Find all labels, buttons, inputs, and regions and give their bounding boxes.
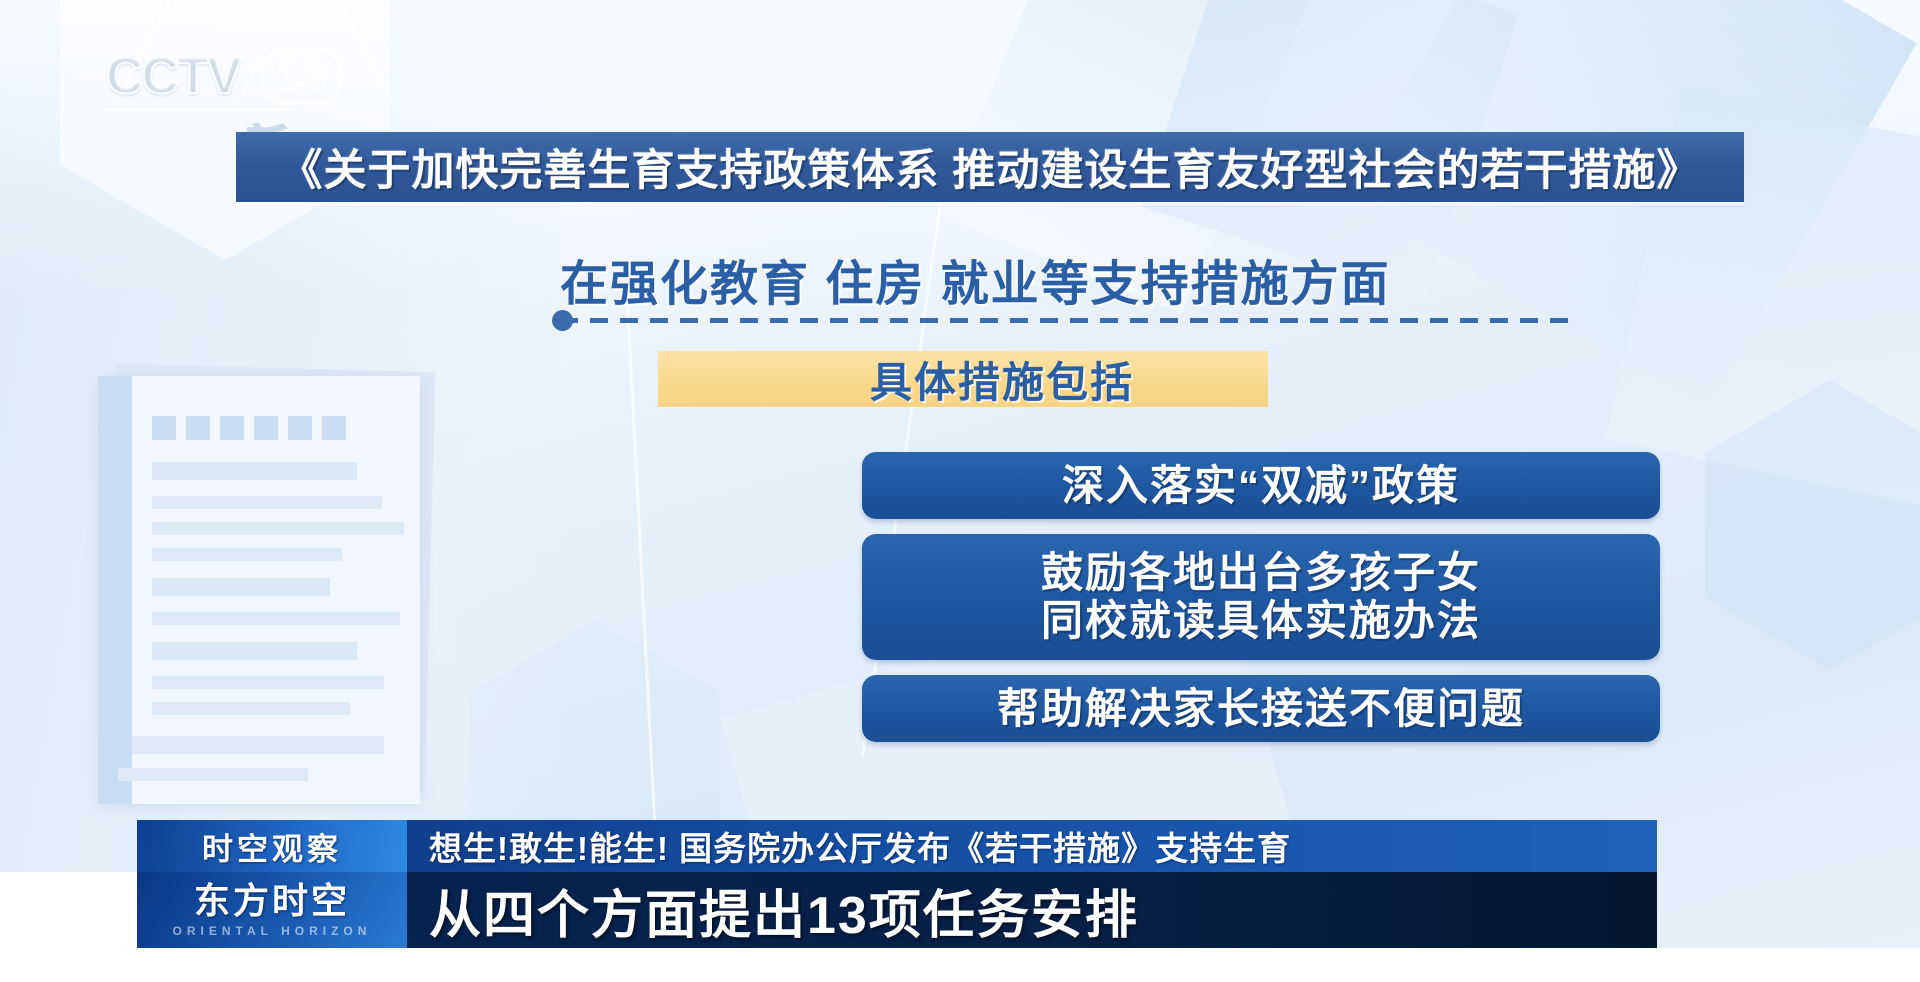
document-swatch bbox=[220, 416, 244, 440]
cctv-logo-text: CCTV bbox=[106, 46, 240, 106]
document-swatch bbox=[322, 416, 346, 440]
document-line bbox=[152, 676, 384, 689]
measure-pill: 鼓励各地出台多孩子女 同校就读具体实施办法 bbox=[862, 534, 1660, 660]
aspect-line: 在强化教育 住房 就业等支持措施方面 bbox=[560, 248, 1570, 310]
program-name-cn: 东方时空 bbox=[194, 883, 350, 919]
measure-pill-text: 帮助解决家长接送不便问题 bbox=[997, 685, 1525, 733]
program-brand-box: 东方时空 ORIENTAL HORIZON bbox=[137, 872, 407, 948]
document-swatch bbox=[288, 416, 312, 440]
dotted-underline bbox=[560, 318, 1572, 323]
document-line bbox=[118, 768, 308, 781]
document-bar bbox=[152, 642, 357, 660]
headline-text: 想生!敢生!能生! 国务院办公厅发布《若干措施》支持生育 bbox=[429, 822, 1291, 870]
highlight-banner: 具体措施包括 bbox=[658, 351, 1268, 407]
document-bar bbox=[118, 736, 384, 754]
lower-third: 时空观察 想生!敢生!能生! 国务院办公厅发布《若干措施》支持生育 东方时空 O… bbox=[0, 820, 1920, 982]
segment-label-box: 时空观察 bbox=[137, 820, 407, 872]
document-line bbox=[152, 496, 382, 509]
document-illustration bbox=[70, 350, 470, 820]
document-line bbox=[152, 702, 350, 715]
cctv-logo-underline bbox=[104, 108, 294, 111]
main-title-text: 从四个方面提出13项任务安排 bbox=[429, 873, 1139, 948]
document-title-band: 《关于加快完善生育支持政策体系 推动建设生育友好型社会的若干措施》 bbox=[236, 132, 1744, 202]
program-name-en: ORIENTAL HORIZON bbox=[173, 924, 372, 938]
measure-pill-text: 深入落实“双减”政策 bbox=[1062, 462, 1460, 510]
document-bar bbox=[152, 578, 330, 596]
cctv-logo-number: 13 bbox=[260, 47, 343, 105]
document-line bbox=[152, 548, 342, 561]
measure-pill: 帮助解决家长接送不便问题 bbox=[862, 675, 1660, 742]
measure-pill-text: 鼓励各地出台多孩子女 同校就读具体实施办法 bbox=[1041, 549, 1481, 645]
document-line bbox=[152, 522, 404, 535]
document-title-text: 《关于加快完善生育支持政策体系 推动建设生育友好型社会的若干措施》 bbox=[280, 136, 1701, 198]
document-swatch bbox=[152, 416, 176, 440]
broadcast-screen: CCTV / 13 新 《关于加快完善生育支持政策体系 推动建设生育友好型社会的… bbox=[0, 0, 1920, 982]
document-bar bbox=[152, 462, 357, 480]
document-swatch bbox=[186, 416, 210, 440]
main-title-bar: 从四个方面提出13项任务安排 bbox=[407, 872, 1657, 948]
document-line bbox=[152, 612, 400, 625]
highlight-banner-text: 具体措施包括 bbox=[870, 349, 1134, 410]
lower-third-bottom-strip bbox=[0, 948, 1920, 982]
document-swatch bbox=[254, 416, 278, 440]
lower-third-left-fill bbox=[0, 872, 137, 948]
measure-pill: 深入落实“双减”政策 bbox=[862, 452, 1660, 519]
aspect-line-text: 在强化教育 住房 就业等支持措施方面 bbox=[560, 244, 1391, 314]
segment-label-text: 时空观察 bbox=[202, 824, 342, 869]
headline-bar: 想生!敢生!能生! 国务院办公厅发布《若干措施》支持生育 bbox=[407, 820, 1657, 872]
